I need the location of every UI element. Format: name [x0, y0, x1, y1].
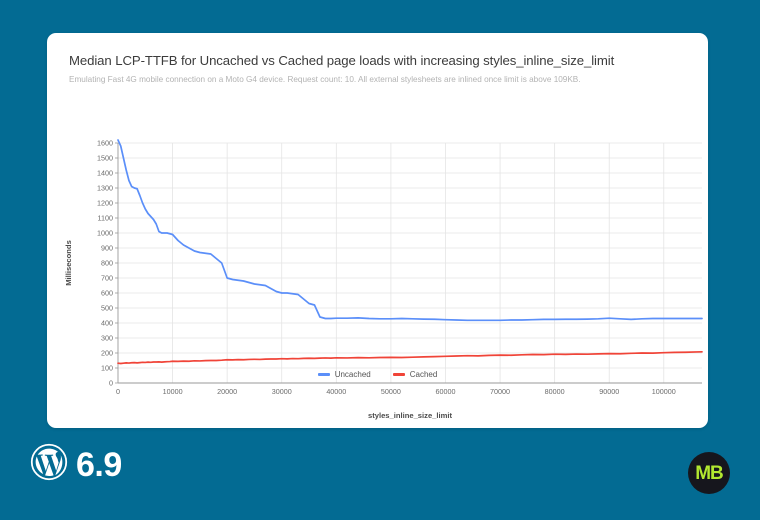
chart-card: Median LCP-TTFB for Uncached vs Cached p…: [47, 33, 708, 428]
svg-text:1200: 1200: [97, 199, 113, 208]
svg-text:0: 0: [116, 387, 120, 396]
wordpress-logo-icon: [30, 443, 68, 486]
chart-subtitle: Emulating Fast 4G mobile connection on a…: [69, 75, 694, 84]
svg-text:80000: 80000: [545, 387, 565, 396]
svg-text:600: 600: [101, 289, 113, 298]
wordpress-version-footer: 6.9: [30, 443, 122, 486]
svg-text:20000: 20000: [217, 387, 237, 396]
svg-text:1500: 1500: [97, 154, 113, 163]
legend-item-cached[interactable]: Cached: [393, 370, 438, 379]
legend-item-uncached[interactable]: Uncached: [318, 370, 371, 379]
svg-text:500: 500: [101, 304, 113, 313]
svg-text:90000: 90000: [599, 387, 619, 396]
svg-text:700: 700: [101, 274, 113, 283]
y-axis-tick-labels: 0100200300400500600700800900100011001200…: [97, 139, 118, 388]
chart-legend: Uncached Cached: [47, 370, 708, 379]
svg-text:900: 900: [101, 244, 113, 253]
chart-title: Median LCP-TTFB for Uncached vs Cached p…: [69, 53, 689, 68]
svg-text:1100: 1100: [98, 214, 113, 223]
mb-logo-badge[interactable]: MB: [688, 452, 730, 494]
svg-text:50000: 50000: [381, 387, 401, 396]
svg-text:30000: 30000: [272, 387, 292, 396]
svg-text:1000: 1000: [97, 229, 113, 238]
svg-text:800: 800: [101, 259, 113, 268]
legend-label-uncached: Uncached: [335, 370, 371, 379]
mb-badge-text: MB: [695, 464, 723, 483]
svg-text:400: 400: [101, 319, 113, 328]
grid-lines: [118, 143, 702, 383]
svg-text:0: 0: [109, 379, 113, 388]
x-axis-title: styles_inline_size_limit: [368, 411, 452, 420]
svg-text:70000: 70000: [490, 387, 510, 396]
svg-text:100000: 100000: [652, 387, 676, 396]
svg-text:1300: 1300: [97, 184, 113, 193]
svg-text:300: 300: [101, 334, 113, 343]
svg-text:1600: 1600: [97, 139, 113, 148]
svg-text:1400: 1400: [97, 169, 113, 178]
legend-swatch-uncached: [318, 373, 330, 376]
svg-text:10000: 10000: [163, 387, 183, 396]
y-axis-title: Milliseconds: [64, 240, 73, 286]
svg-text:40000: 40000: [326, 387, 346, 396]
svg-text:60000: 60000: [435, 387, 455, 396]
legend-label-cached: Cached: [410, 370, 438, 379]
wordpress-version-text: 6.9: [76, 448, 122, 482]
svg-text:200: 200: [101, 349, 113, 358]
slide-root: Median LCP-TTFB for Uncached vs Cached p…: [0, 0, 760, 520]
data-series-layer: [118, 140, 702, 364]
x-axis-tick-labels: 0100002000030000400005000060000700008000…: [116, 387, 676, 396]
legend-swatch-cached: [393, 373, 405, 376]
